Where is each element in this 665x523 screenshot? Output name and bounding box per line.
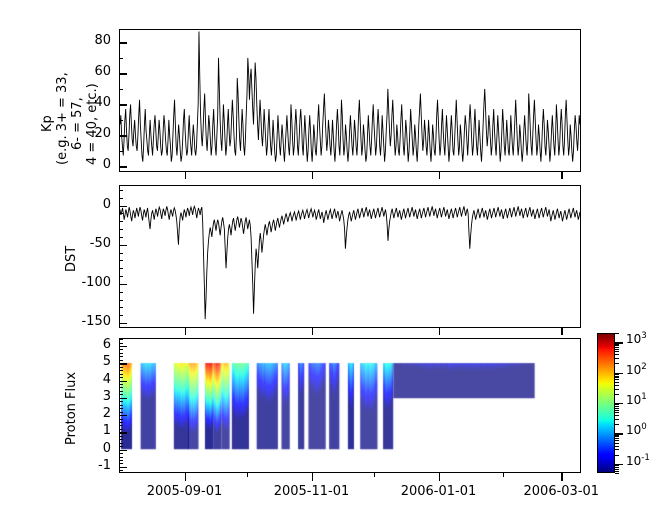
proton-y-minor-tick xyxy=(119,401,123,402)
colorbar-minor-tick xyxy=(615,419,619,420)
kp-y-minor-tick xyxy=(119,89,123,90)
colorbar-minor-tick xyxy=(615,465,619,466)
proton-y-minor-tick xyxy=(119,387,123,388)
proton-y-label: 4 xyxy=(63,372,111,387)
colorbar-minor-tick xyxy=(615,410,619,411)
proton-y-major-tick xyxy=(119,398,127,399)
colorbar-minor-tick xyxy=(615,469,619,470)
proton-flux-spectrogram-image xyxy=(120,339,580,472)
x-tick-label: 2005-09-01 xyxy=(135,484,235,499)
proton-y-minor-tick xyxy=(119,360,123,361)
proton-y-minor-tick xyxy=(119,463,123,464)
proton-y-label: 6 xyxy=(63,337,111,352)
dst-y-label: -50 xyxy=(63,236,111,251)
proton-y-minor-tick xyxy=(119,374,123,375)
proton-y-minor-tick xyxy=(119,446,123,447)
proton-y-major-tick xyxy=(119,363,127,364)
proton-y-minor-tick xyxy=(119,412,123,413)
colorbar-tick-label: 100 xyxy=(626,423,647,437)
colorbar-minor-tick xyxy=(615,406,619,407)
proton-y-minor-tick xyxy=(119,353,123,354)
kp-y-label: 40 xyxy=(63,95,111,110)
colorbar-minor-tick xyxy=(615,438,619,439)
proton-y-minor-tick xyxy=(119,349,123,350)
colorbar-minor-tick xyxy=(615,412,619,413)
x-major-tick xyxy=(439,171,440,179)
proton-y-label: 5 xyxy=(63,354,111,369)
proton-y-minor-tick xyxy=(119,457,123,458)
kp-y-label: 60 xyxy=(63,64,111,79)
kp-y-major-tick xyxy=(119,135,127,136)
proton-y-minor-tick xyxy=(119,436,123,437)
dst-y-minor-tick xyxy=(119,276,123,277)
proton-y-label: -1 xyxy=(63,458,111,473)
kp-plot-area xyxy=(120,30,580,171)
colorbar-major-tick xyxy=(615,464,623,465)
x-major-tick xyxy=(312,171,313,179)
proton-y-minor-tick xyxy=(119,391,123,392)
dst-panel xyxy=(119,185,581,328)
x-major-tick xyxy=(439,472,440,481)
proton-y-major-tick xyxy=(119,346,127,347)
dst-y-minor-tick xyxy=(119,292,123,293)
kp-y-label: 20 xyxy=(63,126,111,141)
x-tick-label: 2005-11-01 xyxy=(262,484,362,499)
colorbar-minor-tick xyxy=(615,376,619,377)
proton-y-major-tick xyxy=(119,415,127,416)
proton-y-minor-tick xyxy=(119,443,123,444)
colorbar-minor-tick xyxy=(615,349,619,350)
proton-flux-panel xyxy=(119,338,581,473)
colorbar xyxy=(597,333,615,473)
x-minor-tick xyxy=(503,472,504,477)
x-major-tick xyxy=(561,472,562,481)
kp-y-major-tick xyxy=(119,104,127,105)
dst-y-minor-tick xyxy=(119,221,123,222)
x-major-tick xyxy=(439,327,440,335)
colorbar-minor-tick xyxy=(615,389,619,390)
proton-y-major-tick xyxy=(119,432,127,433)
x-tick-label: 2006-03-01 xyxy=(511,484,611,499)
proton-y-minor-tick xyxy=(119,370,123,371)
proton-y-minor-tick xyxy=(119,439,123,440)
colorbar-minor-tick xyxy=(615,467,619,468)
dst-y-label: -150 xyxy=(63,314,111,329)
proton-y-minor-tick xyxy=(119,405,123,406)
colorbar-minor-tick xyxy=(615,471,619,472)
dst-y-major-tick xyxy=(119,284,127,285)
x-major-tick xyxy=(561,171,562,179)
proton-y-minor-tick xyxy=(119,422,123,423)
kp-y-minor-tick xyxy=(119,151,123,152)
x-minor-tick xyxy=(247,472,248,477)
proton-y-major-tick xyxy=(119,467,127,468)
dst-y-minor-tick xyxy=(119,198,123,199)
kp-y-label: 0 xyxy=(63,157,111,172)
colorbar-minor-tick xyxy=(615,408,619,409)
dst-y-major-tick xyxy=(119,206,127,207)
proton-y-major-tick xyxy=(119,450,127,451)
kp-y-major-tick xyxy=(119,166,127,167)
colorbar-minor-tick xyxy=(615,436,619,437)
colorbar-tick-label: 102 xyxy=(626,363,647,377)
colorbar-minor-tick xyxy=(615,358,619,359)
colorbar-minor-tick xyxy=(615,379,619,380)
dst-y-label: 0 xyxy=(63,197,111,212)
colorbar-minor-tick xyxy=(615,385,619,386)
colorbar-major-tick xyxy=(615,373,623,374)
kp-y-major-tick xyxy=(119,73,127,74)
colorbar-minor-tick xyxy=(615,404,619,405)
x-major-tick xyxy=(185,472,186,481)
colorbar-minor-tick xyxy=(615,363,619,364)
proton-y-minor-tick xyxy=(119,367,123,368)
proton-y-label: 2 xyxy=(63,406,111,421)
x-major-tick xyxy=(312,327,313,335)
proton-y-minor-tick xyxy=(119,394,123,395)
colorbar-minor-tick xyxy=(615,345,619,346)
colorbar-minor-tick xyxy=(615,449,619,450)
colorbar-minor-tick xyxy=(615,443,619,444)
colorbar-minor-tick xyxy=(615,333,619,334)
colorbar-minor-tick xyxy=(615,455,619,456)
proton-y-minor-tick xyxy=(119,377,123,378)
colorbar-tick-label: 10-1 xyxy=(626,454,650,468)
colorbar-major-tick xyxy=(615,433,623,434)
dst-y-minor-tick xyxy=(119,229,123,230)
x-tick-label: 2006-01-01 xyxy=(389,484,489,499)
dst-y-minor-tick xyxy=(119,213,123,214)
colorbar-minor-tick xyxy=(615,473,619,474)
colorbar-minor-tick xyxy=(615,382,619,383)
colorbar-minor-tick xyxy=(615,344,619,345)
colorbar-minor-tick xyxy=(615,351,619,352)
proton-y-minor-tick xyxy=(119,356,123,357)
colorbar-minor-tick xyxy=(615,435,619,436)
proton-y-label: 0 xyxy=(63,441,111,456)
proton-y-major-tick xyxy=(119,381,127,382)
proton-y-label: 3 xyxy=(63,389,111,404)
colorbar-minor-tick xyxy=(615,440,619,441)
kp-y-major-tick xyxy=(119,42,127,43)
kp-y-label: 80 xyxy=(63,33,111,48)
x-minor-tick xyxy=(374,472,375,477)
dst-y-minor-tick xyxy=(119,307,123,308)
colorbar-tick-label: 103 xyxy=(626,332,647,346)
x-major-tick xyxy=(561,327,562,335)
colorbar-minor-tick xyxy=(615,394,619,395)
proton-y-minor-tick xyxy=(119,384,123,385)
colorbar-minor-tick xyxy=(615,374,619,375)
x-major-tick xyxy=(185,171,186,179)
dst-y-minor-tick xyxy=(119,315,123,316)
dst-y-minor-tick xyxy=(119,268,123,269)
proton-y-minor-tick xyxy=(119,460,123,461)
kp-panel xyxy=(119,29,581,172)
proton-y-minor-tick xyxy=(119,343,123,344)
dst-plot-area xyxy=(120,186,580,327)
colorbar-minor-tick xyxy=(615,377,619,378)
proton-y-label: 1 xyxy=(63,423,111,438)
colorbar-minor-tick xyxy=(615,424,619,425)
proton-y-minor-tick xyxy=(119,470,123,471)
colorbar-minor-tick xyxy=(615,446,619,447)
x-major-tick xyxy=(185,327,186,335)
kp-ylabel-line1: Kp xyxy=(40,115,55,132)
colorbar-minor-tick xyxy=(615,354,619,355)
dst-y-minor-tick xyxy=(119,253,123,254)
colorbar-tick-label: 101 xyxy=(626,393,647,407)
dst-y-minor-tick xyxy=(119,300,123,301)
colorbar-major-tick xyxy=(615,342,623,343)
kp-y-minor-tick xyxy=(119,120,123,121)
figure-canvas: Kp (e.g. 3+ = 33, 6- = 57, 4 = 40, etc.)… xyxy=(0,0,665,523)
dst-y-major-tick xyxy=(119,323,127,324)
colorbar-major-tick xyxy=(615,403,623,404)
dst-y-major-tick xyxy=(119,245,127,246)
proton-y-minor-tick xyxy=(119,429,123,430)
proton-y-minor-tick xyxy=(119,419,123,420)
dst-y-minor-tick xyxy=(119,260,123,261)
proton-y-minor-tick xyxy=(119,339,123,340)
colorbar-minor-tick xyxy=(615,415,619,416)
colorbar-minor-tick xyxy=(615,347,619,348)
dst-y-minor-tick xyxy=(119,237,123,238)
proton-y-minor-tick xyxy=(119,453,123,454)
proton-y-minor-tick xyxy=(119,425,123,426)
proton-y-minor-tick xyxy=(119,408,123,409)
dst-y-label: -100 xyxy=(63,275,111,290)
kp-y-minor-tick xyxy=(119,58,123,59)
kp-ylabel-line2: (e.g. 3+ = 33, xyxy=(55,72,70,165)
dst-y-minor-tick xyxy=(119,190,123,191)
x-major-tick xyxy=(312,472,313,481)
